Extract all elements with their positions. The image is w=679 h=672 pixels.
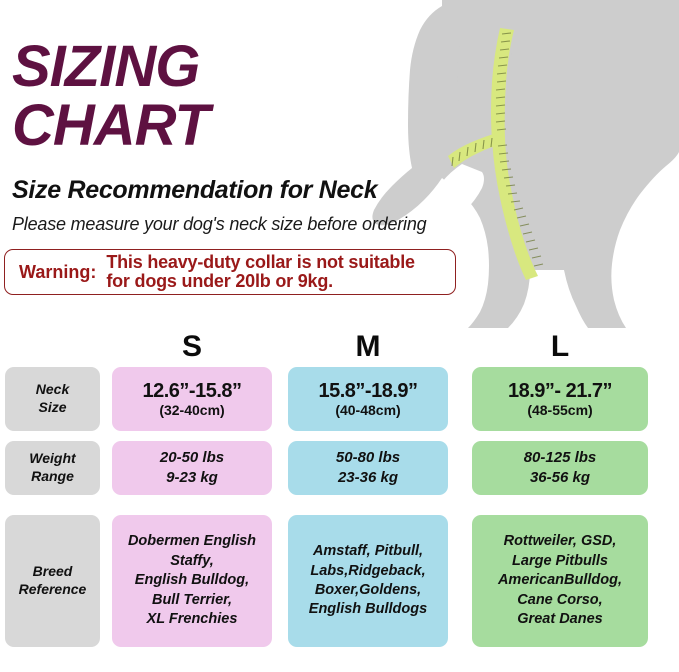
cell-weight-range-s-lbs: 20-50 lbs xyxy=(160,448,224,468)
cell-neck-size-s-inches: 12.6”-15.8” xyxy=(142,380,241,402)
cell-weight-range-m-lbs: 50-80 lbs xyxy=(336,448,400,468)
cell-breed-reference-s: Dobermen English Staffy, English Bulldog… xyxy=(112,515,272,647)
row-label-breed-reference-line2: Reference xyxy=(19,581,87,599)
cell-neck-size-m: 15.8”-18.9” (40-48cm) xyxy=(288,367,448,431)
cell-breed-reference-m-line2: Labs,Ridgeback, xyxy=(310,562,425,581)
row-label-breed-reference-line1: Breed xyxy=(33,563,73,581)
cell-breed-reference-m-line4: English Bulldogs xyxy=(309,600,427,619)
cell-breed-reference-m-line1: Amstaff, Pitbull, xyxy=(313,542,423,561)
cell-weight-range-l-kg: 36-56 kg xyxy=(530,468,590,488)
cell-weight-range-m-kg: 23-36 kg xyxy=(338,468,398,488)
row-label-weight-range-line2: Range xyxy=(31,468,74,486)
cell-neck-size-l: 18.9”- 21.7” (48-55cm) xyxy=(472,367,648,431)
cell-breed-reference-m: Amstaff, Pitbull, Labs,Ridgeback, Boxer,… xyxy=(288,515,448,647)
cell-breed-reference-s-line5: XL Frenchies xyxy=(147,610,238,629)
cell-breed-reference-l-line1: Rottweiler, GSD, xyxy=(504,532,617,551)
cell-weight-range-s-kg: 9-23 kg xyxy=(166,468,218,488)
cell-weight-range-m: 50-80 lbs 23-36 kg xyxy=(288,441,448,495)
cell-neck-size-s-cm: (32-40cm) xyxy=(159,402,224,418)
page-title-line2: CHART xyxy=(12,99,209,154)
cell-breed-reference-l: Rottweiler, GSD, Large Pitbulls American… xyxy=(472,515,648,647)
size-header-m: M xyxy=(288,330,448,364)
warning-message: This heavy-duty collar is not suitable f… xyxy=(106,253,414,292)
size-header-row: S M L xyxy=(0,330,679,364)
size-header-l: L xyxy=(472,330,648,364)
warning-message-line2: for dogs under 20lb or 9kg. xyxy=(106,272,414,291)
cell-breed-reference-s-line3: English Bulldog, xyxy=(135,571,249,590)
cell-breed-reference-s-line2: Staffy, xyxy=(170,552,214,571)
cell-breed-reference-s-line4: Bull Terrier, xyxy=(152,591,232,610)
measure-instruction: Please measure your dog's neck size befo… xyxy=(12,214,426,235)
size-header-s: S xyxy=(112,330,272,364)
table-row-breed-reference: Breed Reference Dobermen English Staffy,… xyxy=(0,503,679,651)
page-subtitle: Size Recommendation for Neck xyxy=(12,176,377,205)
warning-box: Warning: This heavy-duty collar is not s… xyxy=(4,249,456,295)
row-label-neck-size-line1: Neck xyxy=(36,381,69,399)
row-label-weight-range: Weight Range xyxy=(5,441,100,495)
cell-neck-size-s: 12.6”-15.8” (32-40cm) xyxy=(112,367,272,431)
row-label-neck-size: Neck Size xyxy=(5,367,100,431)
sizing-table: Neck Size 12.6”-15.8” (32-40cm) 15.8”-18… xyxy=(0,367,679,651)
row-label-neck-size-line2: Size xyxy=(38,399,66,417)
cell-breed-reference-l-line2: Large Pitbulls xyxy=(512,552,608,571)
cell-neck-size-m-cm: (40-48cm) xyxy=(335,402,400,418)
cell-breed-reference-l-line4: Cane Corso, xyxy=(517,591,602,610)
cell-breed-reference-m-line3: Boxer,Goldens, xyxy=(315,581,421,600)
cell-weight-range-l-lbs: 80-125 lbs xyxy=(524,448,597,468)
cell-breed-reference-l-line3: AmericanBulldog, xyxy=(498,571,622,590)
row-label-weight-range-line1: Weight xyxy=(29,450,75,468)
cell-weight-range-s: 20-50 lbs 9-23 kg xyxy=(112,441,272,495)
warning-message-line1: This heavy-duty collar is not suitable xyxy=(106,253,414,272)
table-row-weight-range: Weight Range 20-50 lbs 9-23 kg 50-80 lbs… xyxy=(0,435,679,503)
cell-neck-size-m-inches: 15.8”-18.9” xyxy=(318,380,417,402)
cell-breed-reference-l-line5: Great Danes xyxy=(517,610,602,629)
page-title-line1: SIZING xyxy=(12,40,199,95)
cell-weight-range-l: 80-125 lbs 36-56 kg xyxy=(472,441,648,495)
warning-label: Warning: xyxy=(5,262,106,283)
cell-neck-size-l-inches: 18.9”- 21.7” xyxy=(508,380,612,402)
row-label-breed-reference: Breed Reference xyxy=(5,515,100,647)
table-row-neck-size: Neck Size 12.6”-15.8” (32-40cm) 15.8”-18… xyxy=(0,367,679,435)
cell-breed-reference-s-line1: Dobermen English xyxy=(128,532,256,551)
cell-neck-size-l-cm: (48-55cm) xyxy=(527,402,592,418)
